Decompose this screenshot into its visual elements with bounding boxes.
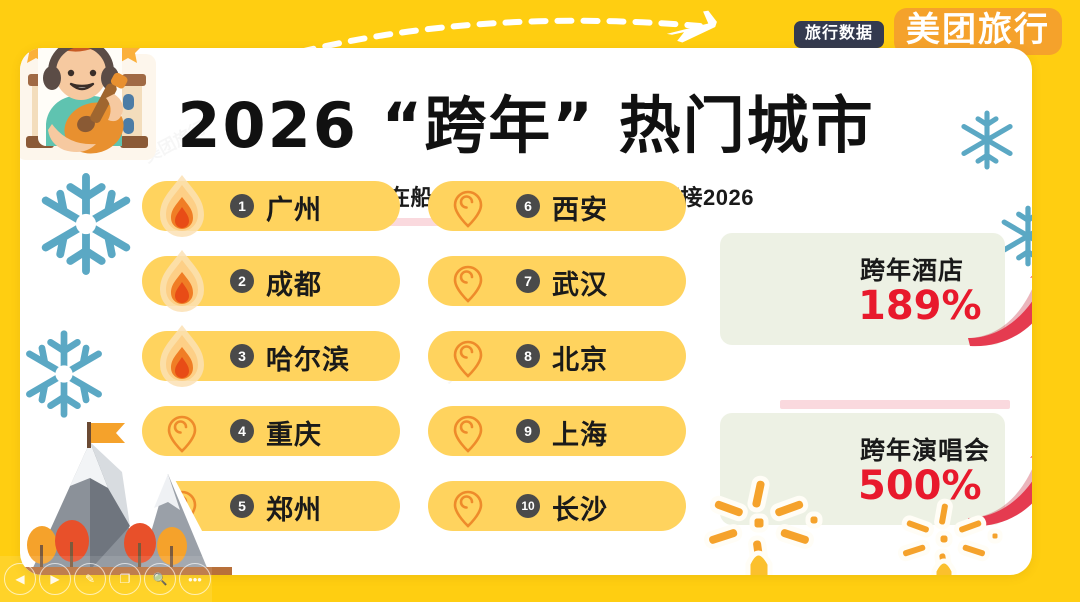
city-name: 上海 xyxy=(552,413,608,452)
city-name: 长沙 xyxy=(552,488,608,527)
ranking-column-right: 6西安7武汉8北京9上海10长沙 xyxy=(428,181,686,556)
ranking-row[interactable]: 8北京 xyxy=(428,331,686,381)
rank-number-badge: 8 xyxy=(516,344,540,368)
rank-number-badge: 9 xyxy=(516,419,540,443)
ranking-row[interactable]: 1广州 xyxy=(142,181,400,231)
location-pin-icon xyxy=(450,489,486,525)
city-name: 北京 xyxy=(552,338,608,377)
decorative-divider xyxy=(780,400,1010,409)
data-badge: 旅行数据 xyxy=(794,21,884,48)
rank-number-badge: 10 xyxy=(516,494,540,518)
city-name: 广州 xyxy=(266,188,322,227)
flame-icon xyxy=(156,173,208,239)
firework-icon xyxy=(660,468,860,575)
ranking-row[interactable]: 10长沙 xyxy=(428,481,686,531)
city-name: 成都 xyxy=(266,263,322,302)
play-button[interactable]: ▶ xyxy=(39,563,71,595)
rank-number-badge: 2 xyxy=(230,269,254,293)
flame-icon xyxy=(156,248,208,314)
ranking-row[interactable]: 6西安 xyxy=(428,181,686,231)
more-options-button[interactable]: ••• xyxy=(179,563,211,595)
content-card: 美团旅行 美团旅行 美团旅行 xyxy=(20,48,1032,575)
firework-icon xyxy=(860,493,1030,575)
rank-number-badge: 4 xyxy=(230,419,254,443)
page-title: 2026 “跨年” 热门城市 xyxy=(20,95,1032,157)
city-name: 武汉 xyxy=(552,263,608,302)
stat-label: 跨年酒店 xyxy=(860,251,964,287)
rank-number-badge: 1 xyxy=(230,194,254,218)
ranking-row[interactable]: 9上海 xyxy=(428,406,686,456)
rank-number-badge: 5 xyxy=(230,494,254,518)
city-name: 郑州 xyxy=(266,488,322,527)
ranking-row[interactable]: 3哈尔滨 xyxy=(142,331,400,381)
location-pin-icon xyxy=(450,414,486,450)
location-pin-icon xyxy=(450,339,486,375)
city-name: 西安 xyxy=(552,188,608,227)
city-name: 重庆 xyxy=(266,413,322,452)
city-name: 哈尔滨 xyxy=(266,338,350,377)
airplane-icon xyxy=(663,8,719,46)
trend-up-arrow-icon xyxy=(960,238,1032,348)
layout-button[interactable]: ❐ xyxy=(109,563,141,595)
bottom-toolbar[interactable]: ◀▶✎❐🔍••• xyxy=(0,556,212,602)
guitarist-icon xyxy=(20,48,161,163)
flame-icon xyxy=(156,323,208,389)
rank-number-badge: 6 xyxy=(516,194,540,218)
rank-number-badge: 7 xyxy=(516,269,540,293)
rank-number-badge: 3 xyxy=(230,344,254,368)
search-button[interactable]: 🔍 xyxy=(144,563,176,595)
edit-pencil-button[interactable]: ✎ xyxy=(74,563,106,595)
ranking-row[interactable]: 2成都 xyxy=(142,256,400,306)
location-pin-icon xyxy=(450,189,486,225)
mountain-illustration xyxy=(20,412,232,575)
ranking-row[interactable]: 7武汉 xyxy=(428,256,686,306)
infographic-poster: 旅行数据 美团旅行 美团旅行 美团旅行 美团旅行 xyxy=(0,0,1080,602)
location-pin-icon xyxy=(450,264,486,300)
previous-button[interactable]: ◀ xyxy=(4,563,36,595)
snowflake-icon xyxy=(20,326,112,422)
